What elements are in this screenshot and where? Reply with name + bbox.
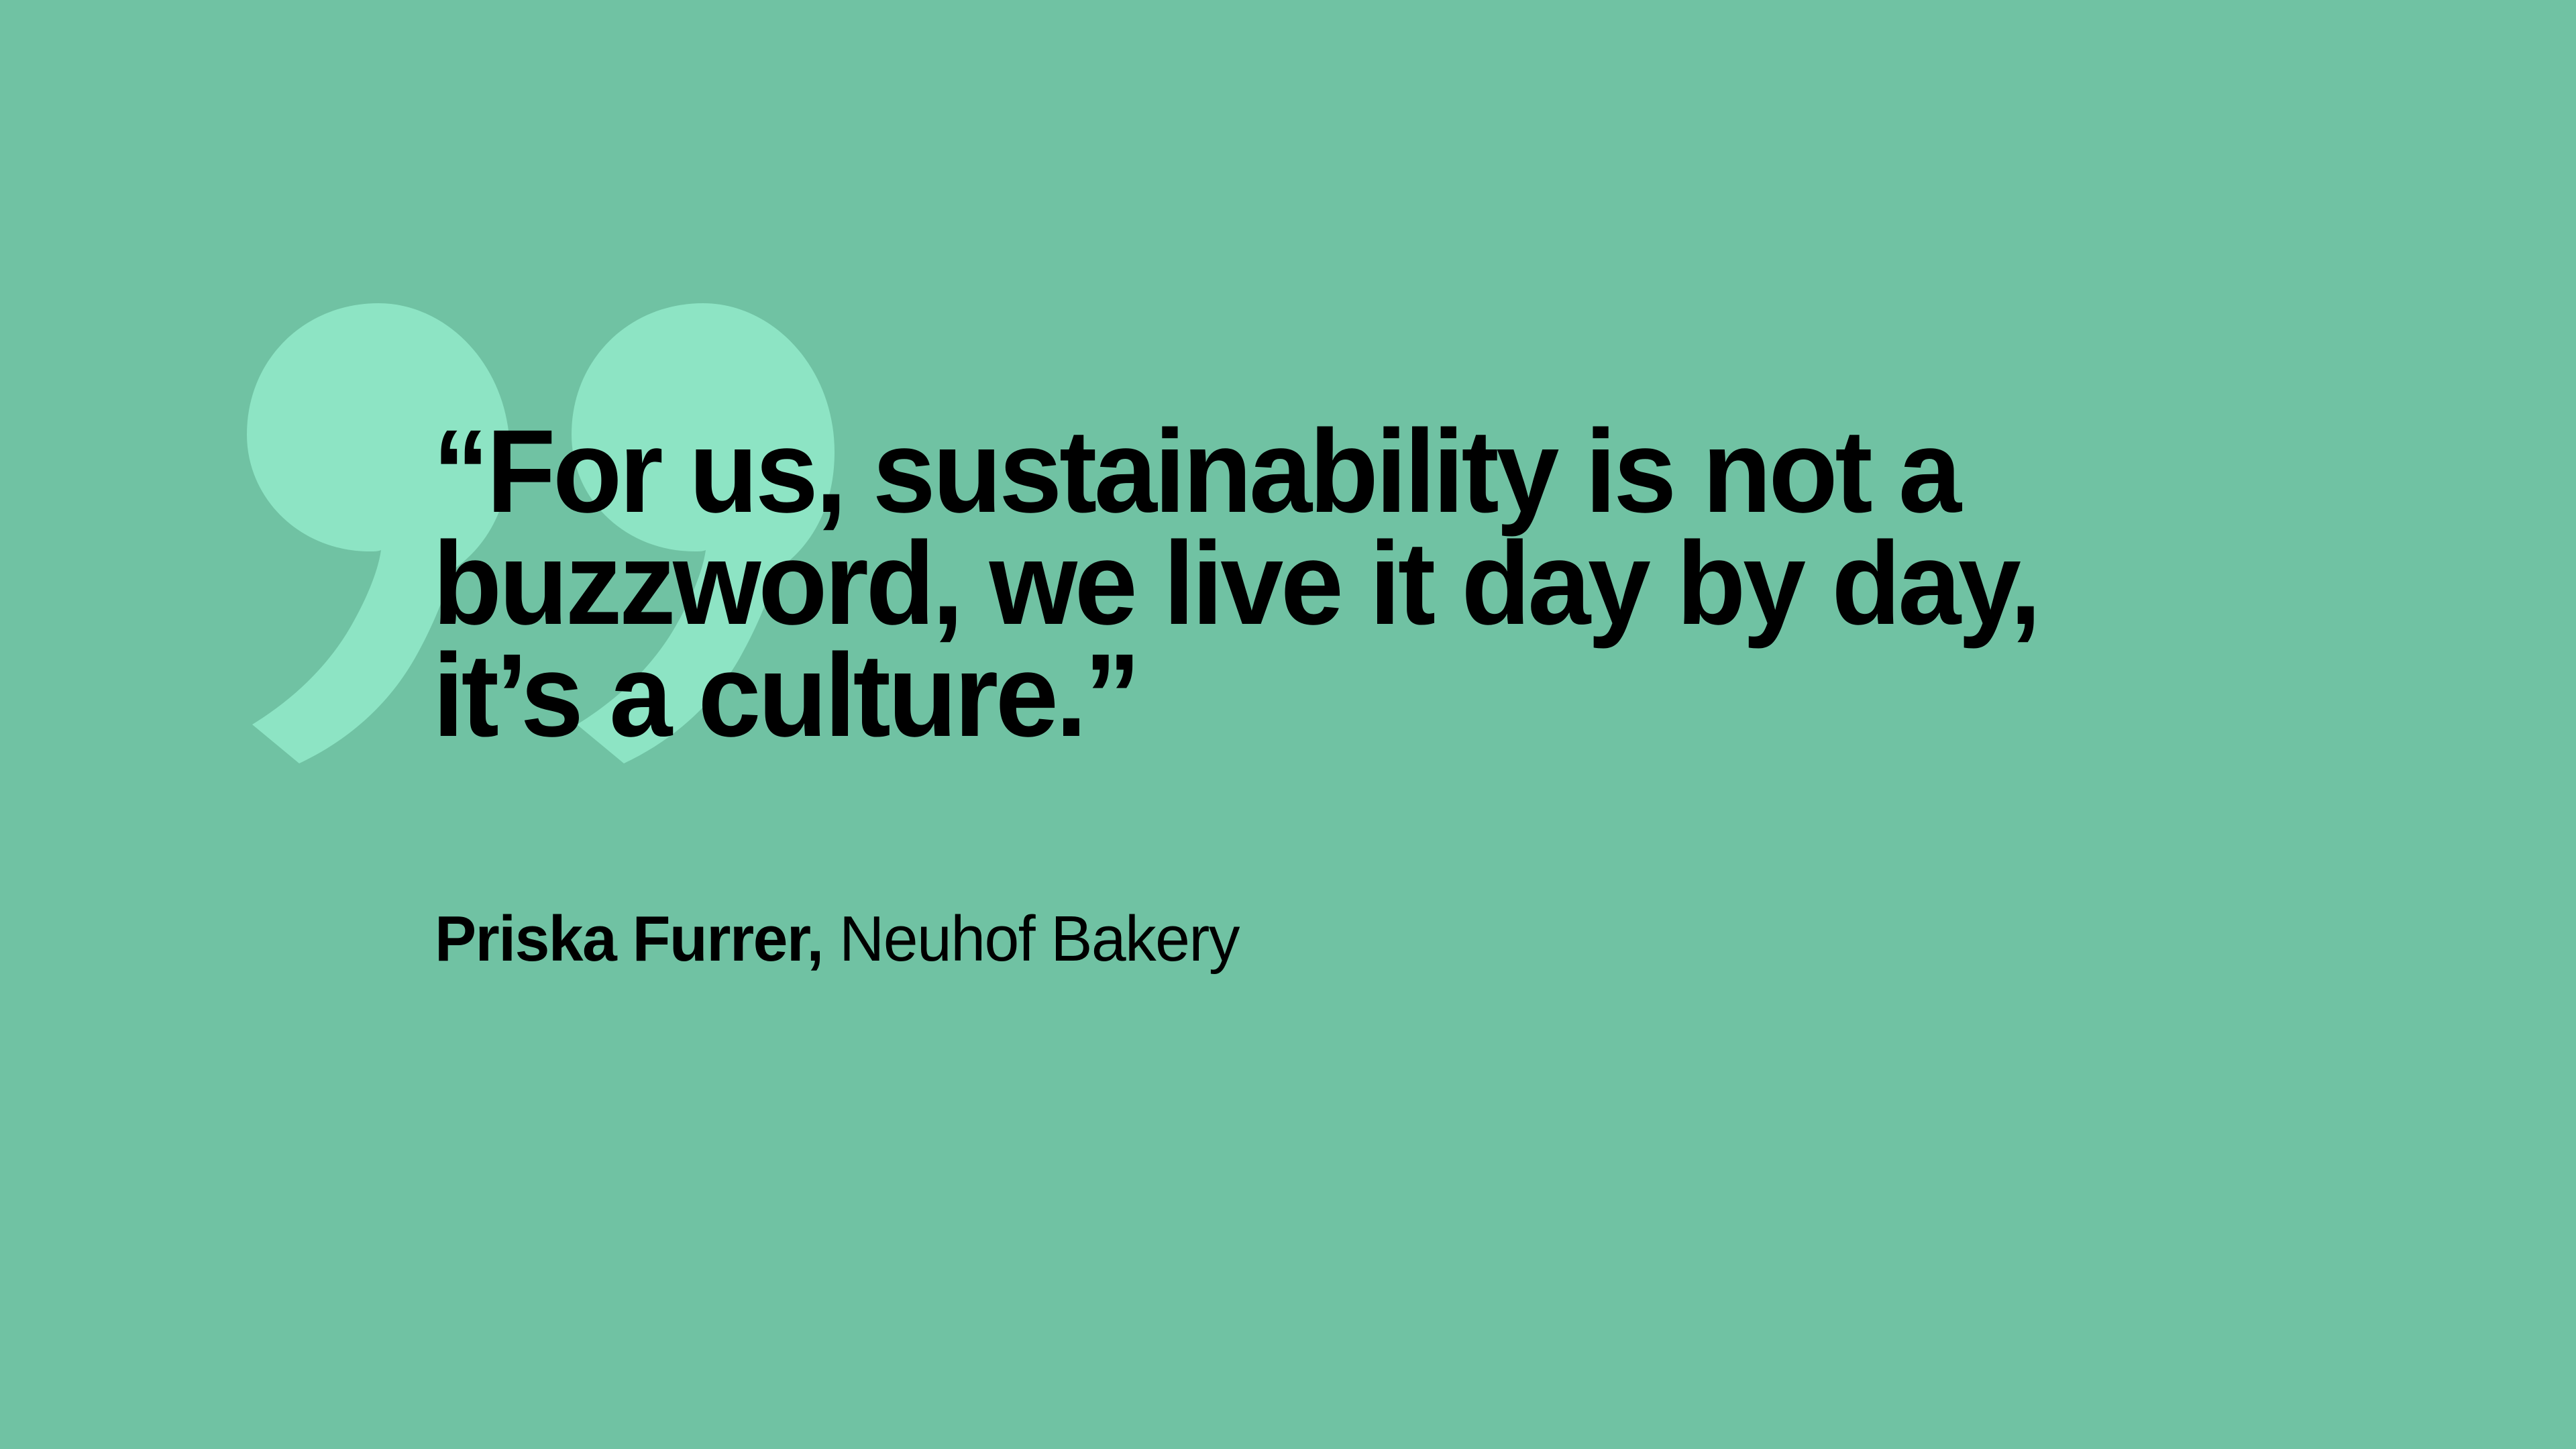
quote-line-2: buzzword, we live it day by day,	[433, 528, 2107, 640]
quote-attribution: Priska Furrer, Neuhof Bakery	[435, 904, 1239, 974]
pull-quote-text: “For us, sustainability is not a buzzwor…	[433, 416, 2177, 752]
quote-slide: “For us, sustainability is not a buzzwor…	[0, 0, 2576, 1449]
quote-line-1: “For us, sustainability is not a	[433, 416, 2107, 528]
quote-line-3: it’s a culture.”	[433, 640, 2107, 752]
attribution-person-name: Priska Furrer,	[435, 903, 823, 975]
attribution-organization: Neuhof Bakery	[823, 903, 1239, 975]
